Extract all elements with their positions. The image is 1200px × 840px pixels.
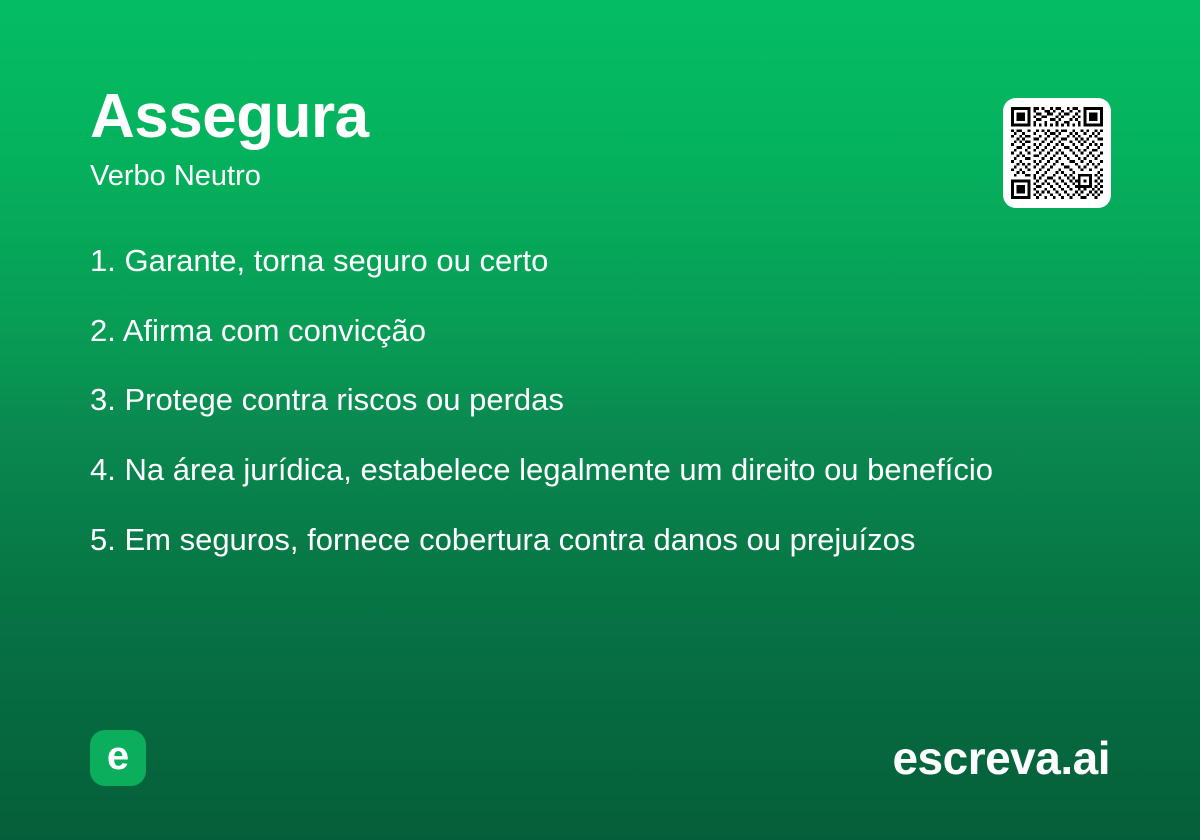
escreva-logo-badge[interactable]: e <box>90 730 146 786</box>
definition-item: 5. Em seguros, fornece cobertura contra … <box>90 523 1130 558</box>
logo-letter: e <box>107 736 129 776</box>
definition-item: 1. Garante, torna seguro ou certo <box>90 244 1130 279</box>
qr-code-icon <box>1011 107 1103 199</box>
definitions-list: 1. Garante, torna seguro ou certo 2. Afi… <box>90 244 1130 558</box>
definition-item: 3. Protege contra riscos ou perdas <box>90 383 1130 418</box>
card-footer: e escreva.ai <box>90 730 1110 786</box>
word-class-subtitle: Verbo Neutro <box>90 162 1110 191</box>
definition-item: 4. Na área jurídica, estabelece legalmen… <box>90 453 1130 488</box>
brand-wordmark: escreva.ai <box>892 735 1110 781</box>
qr-code-container[interactable] <box>1003 98 1111 208</box>
dictionary-card: Assegura Verbo Neutro <box>0 0 1200 840</box>
page-title: Assegura <box>90 86 1110 148</box>
definition-item: 2. Afirma com convicção <box>90 314 1130 349</box>
card-header: Assegura Verbo Neutro <box>90 86 1110 191</box>
